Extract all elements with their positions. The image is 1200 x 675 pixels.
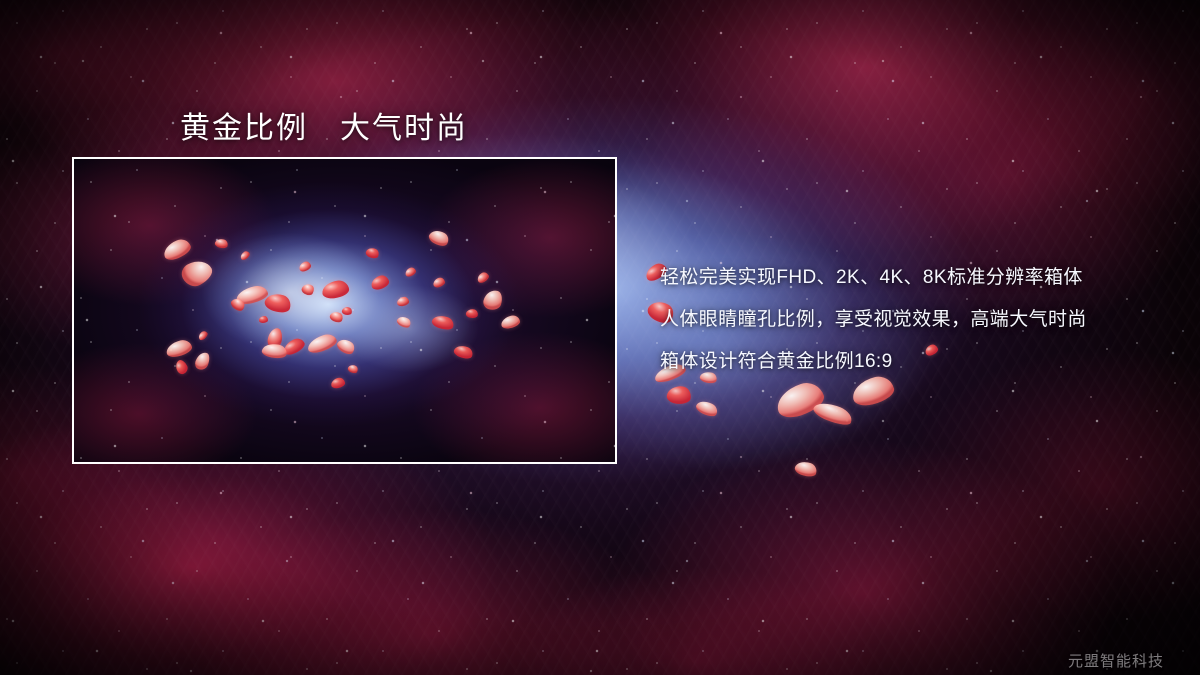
petal [476,271,491,285]
petal [431,313,456,332]
petal [500,314,521,330]
petal-group-inside-frame [74,159,615,462]
petal [347,363,359,374]
petal [161,236,193,262]
petal [298,260,312,273]
petal [482,288,505,312]
body-line-1: 轻松完美实现FHD、2K、4K、8K标准分辨率箱体 [660,262,1083,289]
petal [261,342,288,360]
petal [259,316,268,323]
petal [395,314,412,330]
page-title: 黄金比例 大气时尚 [180,103,468,147]
watermark-logo-text: 元盟智能科技 [1068,650,1164,671]
petal [197,330,209,342]
body-line-2: 人体眼睛瞳孔比例，享受视觉效果，高端大气时尚 [660,304,1087,331]
petal [365,246,381,260]
petal [239,250,251,261]
petal [341,306,352,316]
petal [404,266,417,278]
petal [330,377,346,389]
petal [427,227,451,249]
petal [432,276,446,288]
slide-canvas: 黄金比例 大气时尚 轻松完美实现FHD、2K、4K、8K标准分辨率箱体 人体眼睛… [0,0,1200,675]
petal [453,343,475,361]
petal [396,296,409,307]
petal [214,237,229,249]
petal [165,338,194,359]
body-line-3: 箱体设计符合黄金比例16:9 [660,346,893,373]
petal [305,332,338,356]
petal [335,336,357,357]
petal [300,282,316,298]
petal [370,274,391,291]
petal [178,255,216,290]
framed-image [72,157,617,464]
petal [321,279,350,300]
petal [465,308,478,319]
petal [173,358,190,376]
petal [193,350,211,371]
